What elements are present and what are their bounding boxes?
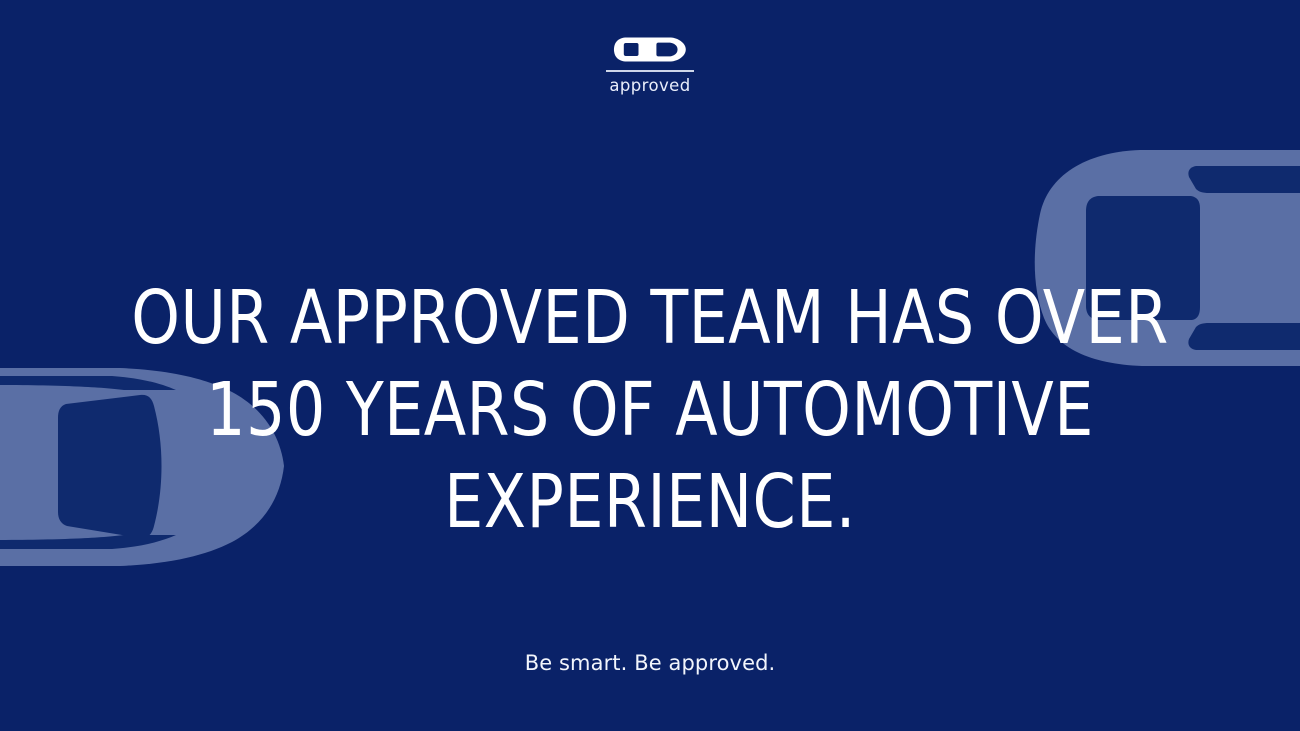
slide-canvas: approved OUR APPROVED TEAM HAS OVER 150 … <box>0 0 1300 731</box>
brand-wordmark: approved <box>609 78 690 95</box>
tagline: Be smart. Be approved. <box>0 653 1300 674</box>
car-top-view-icon <box>613 36 687 63</box>
brand-divider <box>606 70 694 72</box>
brand-lockup: approved <box>0 36 1300 95</box>
headline-line-1: OUR APPROVED TEAM HAS OVER <box>120 272 1180 364</box>
headline-line-3: EXPERIENCE. <box>120 456 1180 548</box>
headline-block: OUR APPROVED TEAM HAS OVER 150 YEARS OF … <box>80 272 1220 548</box>
headline-line-2: 150 YEARS OF AUTOMOTIVE <box>120 364 1180 456</box>
